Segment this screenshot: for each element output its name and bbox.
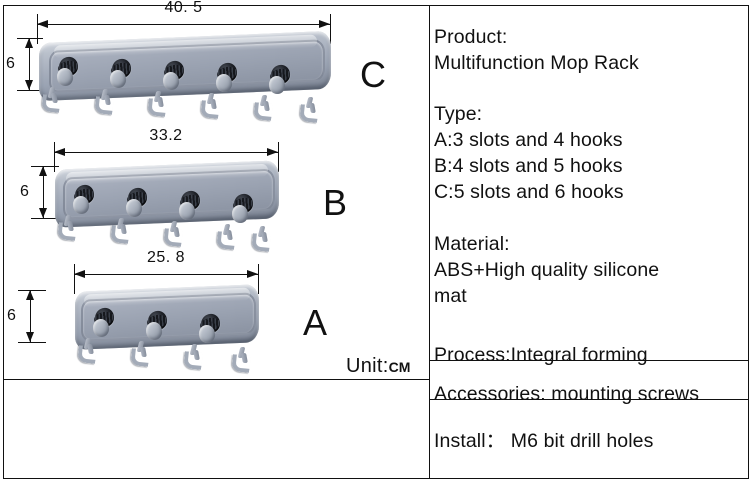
hook-c-3 bbox=[147, 91, 167, 113]
dim-height-c-label: 6 bbox=[6, 55, 15, 73]
hook-b-5 bbox=[251, 226, 271, 248]
type-option-a: A:3 slots and 4 hooks bbox=[434, 127, 752, 153]
hook-a-2 bbox=[130, 341, 150, 363]
arrow-left-icon bbox=[74, 270, 85, 278]
spec-block-accessories: Accessories: mounting screws bbox=[434, 381, 752, 407]
arrow-left-icon bbox=[54, 148, 65, 156]
slot-c-4 bbox=[214, 63, 240, 93]
arrow-left-icon bbox=[37, 20, 48, 28]
slot-b-2 bbox=[124, 188, 150, 218]
type-label: Type: bbox=[434, 101, 752, 127]
arrow-up-icon bbox=[26, 290, 34, 300]
dim-width-c-label: 40. 5 bbox=[37, 0, 330, 17]
slot-c-5 bbox=[267, 65, 293, 95]
dim-height-b: 6 bbox=[37, 166, 49, 218]
dim-height-c: 6 bbox=[23, 38, 35, 90]
unit-text: Unit: bbox=[346, 355, 389, 377]
hook-a-1 bbox=[77, 338, 97, 360]
arrow-right-icon bbox=[267, 148, 278, 156]
hook-c-5 bbox=[253, 95, 273, 117]
unit-value: CM bbox=[389, 359, 411, 375]
dim-width-b: 33.2 bbox=[54, 146, 278, 158]
type-option-b: B:4 slots and 5 hooks bbox=[434, 153, 752, 179]
accessories-value: Accessories: mounting screws bbox=[434, 381, 752, 407]
model-letter-c: C bbox=[360, 57, 386, 93]
slot-a-1 bbox=[91, 308, 117, 338]
dim-height-a-label: 6 bbox=[7, 307, 16, 325]
spec-block-material: Material: ABS+High quality silicone mat bbox=[434, 231, 752, 309]
hook-c-4 bbox=[200, 93, 220, 115]
spec-block-type: Type: A:3 slots and 4 hooks B:4 slots an… bbox=[434, 101, 752, 205]
dim-line bbox=[37, 24, 330, 25]
arrow-down-icon bbox=[26, 332, 34, 342]
panel-vertical-divider bbox=[429, 5, 430, 479]
arrow-down-icon bbox=[39, 208, 47, 218]
product-value: Multifunction Mop Rack bbox=[434, 50, 752, 76]
arrow-right-icon bbox=[247, 270, 258, 278]
hook-b-4 bbox=[216, 224, 236, 246]
hook-c-2 bbox=[94, 89, 114, 111]
dim-width-b-label: 33.2 bbox=[54, 127, 278, 145]
slot-c-1 bbox=[55, 57, 81, 87]
spec-block-process: Process:Integral forming bbox=[434, 342, 752, 368]
material-value-line-1: ABS+High quality silicone bbox=[434, 257, 752, 283]
hook-c-6 bbox=[299, 97, 319, 119]
spec-block-install: Install： M6 bit drill holes bbox=[434, 428, 752, 454]
product-spec-sheet: 40. 5 6 bbox=[0, 0, 753, 484]
dim-height-b-label: 6 bbox=[20, 183, 29, 201]
ext-line-a-bottom bbox=[18, 342, 46, 343]
model-drawing-b: 33.2 6 B bbox=[3, 133, 429, 255]
process-value: Process:Integral forming bbox=[434, 342, 752, 368]
spec-block-product: Product: Multifunction Mop Rack bbox=[434, 24, 752, 76]
dim-width-c: 40. 5 bbox=[37, 18, 330, 30]
model-drawing-c: 40. 5 6 bbox=[3, 5, 429, 127]
product-label: Product: bbox=[434, 24, 752, 50]
dim-width-a-label: 25. 8 bbox=[74, 249, 258, 267]
slot-a-3 bbox=[197, 314, 223, 344]
arrow-right-icon bbox=[319, 20, 330, 28]
drawing-panel: 40. 5 6 bbox=[3, 5, 429, 379]
type-option-c: C:5 slots and 6 hooks bbox=[434, 179, 752, 205]
hook-b-1 bbox=[57, 215, 77, 237]
slot-a-2 bbox=[144, 311, 170, 341]
arrow-up-icon bbox=[39, 166, 47, 176]
dim-height-a: 6 bbox=[24, 290, 36, 342]
hook-a-4 bbox=[231, 347, 251, 369]
slot-b-1 bbox=[71, 185, 97, 215]
model-letter-a: A bbox=[303, 305, 327, 341]
arrow-up-icon bbox=[25, 38, 33, 48]
slot-b-4 bbox=[230, 194, 256, 224]
dim-line bbox=[54, 152, 278, 153]
hook-b-3 bbox=[163, 221, 183, 243]
arrow-down-icon bbox=[25, 80, 33, 90]
hook-b-2 bbox=[110, 218, 130, 240]
material-label: Material: bbox=[434, 231, 752, 257]
dim-width-a: 25. 8 bbox=[74, 268, 258, 280]
unit-label: Unit:CM bbox=[346, 355, 410, 378]
hook-a-3 bbox=[183, 344, 203, 366]
model-letter-b: B bbox=[323, 185, 347, 221]
slot-b-3 bbox=[177, 191, 203, 221]
spec-panel: Product: Multifunction Mop Rack Type: A:… bbox=[434, 5, 752, 479]
material-value-line-2: mat bbox=[434, 283, 752, 309]
drawing-panel-bottom-divider bbox=[3, 379, 430, 380]
slot-c-3 bbox=[161, 61, 187, 91]
slot-c-2 bbox=[108, 59, 134, 89]
install-value: Install： M6 bit drill holes bbox=[434, 428, 752, 454]
hook-c-1 bbox=[41, 87, 61, 109]
dim-line bbox=[74, 274, 258, 275]
